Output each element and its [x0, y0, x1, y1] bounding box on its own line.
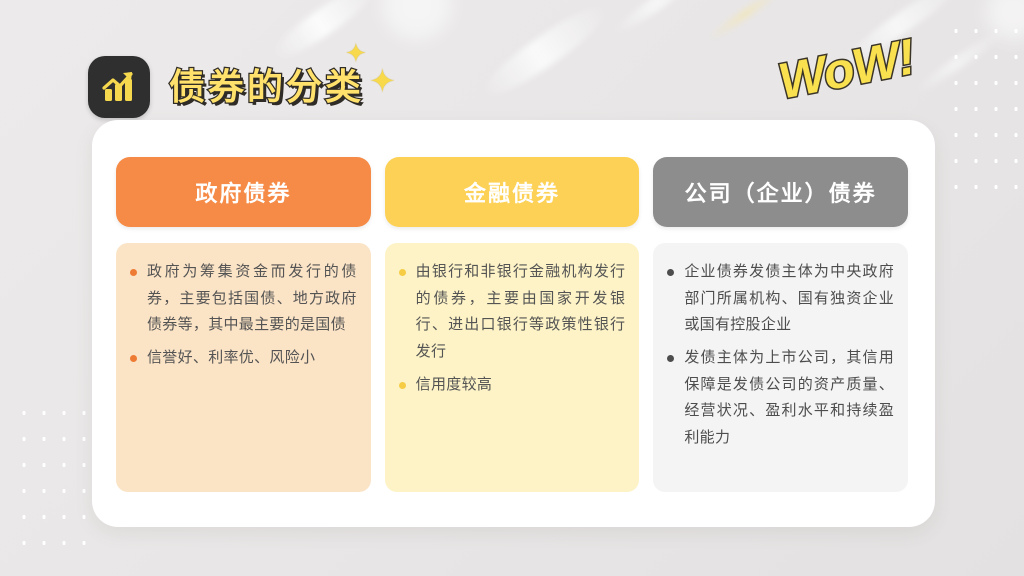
- wow-sticker: WoW!: [774, 31, 918, 106]
- dot-grid-pattern-left: [14, 400, 102, 558]
- list-item: 信用度较高: [397, 372, 626, 399]
- column-corporate-bonds: 公司（企业）债券 企业债券发债主体为中央政府部门所属机构、国有独资企业或国有控股…: [653, 157, 908, 492]
- column-header-financial: 金融债券: [385, 157, 640, 227]
- bullet-list-corporate: 企业债券发债主体为中央政府部门所属机构、国有独资企业或国有控股企业 发债主体为上…: [665, 259, 894, 452]
- classification-columns: 政府债券 政府为筹集资金而发行的债券，主要包括国债、地方政府债券等，其中最主要的…: [116, 157, 908, 492]
- sparkle-icon-large: ✦: [369, 65, 396, 97]
- light-blob: [382, 0, 452, 40]
- list-item: 企业债券发债主体为中央政府部门所属机构、国有独资企业或国有控股企业: [665, 259, 894, 339]
- bullet-list-government: 政府为筹集资金而发行的债券，主要包括国债、地方政府债券等，其中最主要的是国债 信…: [128, 259, 357, 372]
- column-government-bonds: 政府债券 政府为筹集资金而发行的债券，主要包括国债、地方政府债券等，其中最主要的…: [116, 157, 371, 492]
- list-item: 政府为筹集资金而发行的债券，主要包括国债、地方政府债券等，其中最主要的是国债: [128, 259, 357, 339]
- dot-grid-pattern-right: [946, 18, 1024, 208]
- bar-chart-growth-icon: [88, 56, 150, 118]
- light-blob: [986, 0, 1024, 40]
- list-item: 信誉好、利率优、风险小: [128, 345, 357, 372]
- light-streak: [912, 25, 1009, 98]
- light-streak: [611, 0, 709, 38]
- light-streak: [475, 0, 615, 106]
- content-card: 政府债券 政府为筹集资金而发行的债券，主要包括国债、地方政府债券等，其中最主要的…: [92, 120, 935, 527]
- bullet-list-financial: 由银行和非银行金融机构发行的债券，主要由国家开发银行、进出口银行等政策性银行发行…: [397, 259, 626, 398]
- list-item: 由银行和非银行金融机构发行的债券，主要由国家开发银行、进出口银行等政策性银行发行: [397, 259, 626, 366]
- page-title: 债券的分类: [169, 69, 364, 105]
- light-streak: [706, 0, 784, 43]
- sparkle-icon-small: ✦: [345, 40, 367, 66]
- column-financial-bonds: 金融债券 由银行和非银行金融机构发行的债券，主要由国家开发银行、进出口银行等政策…: [385, 157, 640, 492]
- column-body-corporate: 企业债券发债主体为中央政府部门所属机构、国有独资企业或国有控股企业 发债主体为上…: [653, 243, 908, 492]
- column-body-financial: 由银行和非银行金融机构发行的债券，主要由国家开发银行、进出口银行等政策性银行发行…: [385, 243, 640, 492]
- column-header-corporate: 公司（企业）债券: [653, 157, 908, 227]
- list-item: 发债主体为上市公司，其信用保障是发债公司的资产质量、经营状况、盈利水平和持续盈利…: [665, 345, 894, 452]
- slide-canvas: 债券的分类 ✦ ✦ WoW! 政府债券 政府为筹集资金而发行的债券，主要包括国债…: [0, 0, 1024, 576]
- column-body-government: 政府为筹集资金而发行的债券，主要包括国债、地方政府债券等，其中最主要的是国债 信…: [116, 243, 371, 492]
- slide-header: 债券的分类: [88, 52, 364, 122]
- column-header-government: 政府债券: [116, 157, 371, 227]
